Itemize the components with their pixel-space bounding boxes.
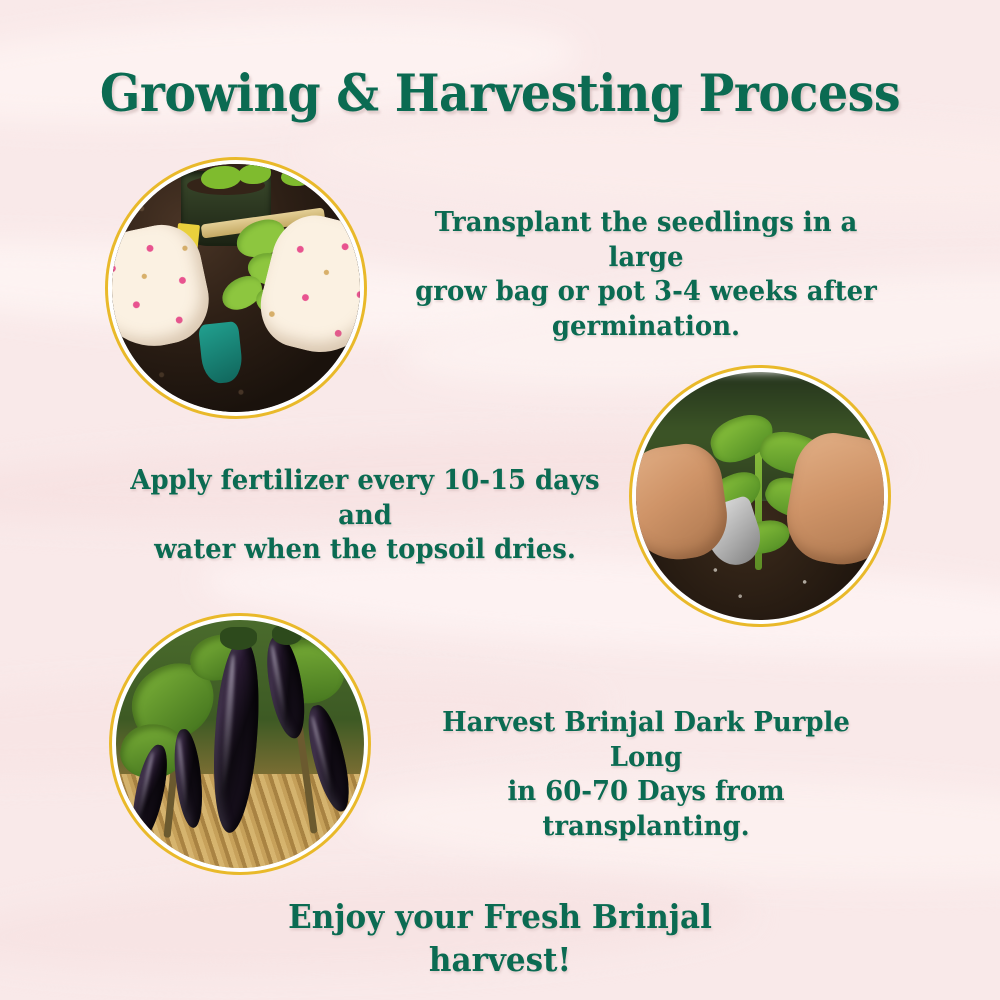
step-1-photo-circle [108,160,364,416]
brinjal-calyx [220,627,257,649]
brinjal-calyx [272,625,302,645]
step-3-line-2: in 60-70 Days from transplanting. [507,776,784,842]
step-1-text: Transplant the seedlings in a large grow… [402,206,890,344]
step-3-text: Harvest Brinjal Dark Purple Long in 60-7… [402,706,890,844]
pot-leaf [238,164,270,184]
step-2-line-2: water when the topsoil dries. [154,534,576,565]
step-2-photo-circle [632,368,888,624]
step-2-text: Apply fertilizer every 10-15 days and wa… [103,464,627,568]
step-1-line-1: Transplant the seedlings in a large [435,207,858,273]
footer-message: Enjoy your Fresh Brinjal harvest! [30,896,970,982]
page-title: Growing & Harvesting Process [35,64,965,124]
infographic-poster: Growing & Harvesting Process Transplant … [0,0,1000,1000]
footer-line-1: Enjoy your Fresh Brinjal [288,897,712,936]
hands-trowel-seedling-photo [636,372,884,620]
step-2-line-1: Apply fertilizer every 10-15 days and [130,465,599,531]
step-1-line-2: grow bag or pot 3-4 weeks after [415,276,877,307]
gloved-hands-planting-seedling-photo [112,164,360,412]
footer-line-2: harvest! [429,940,571,979]
step-1-line-3: germination. [552,311,740,342]
dark-purple-long-brinjal-photo [116,620,364,868]
step-3-photo-circle [112,616,368,872]
step-3-line-1: Harvest Brinjal Dark Purple Long [442,707,850,773]
